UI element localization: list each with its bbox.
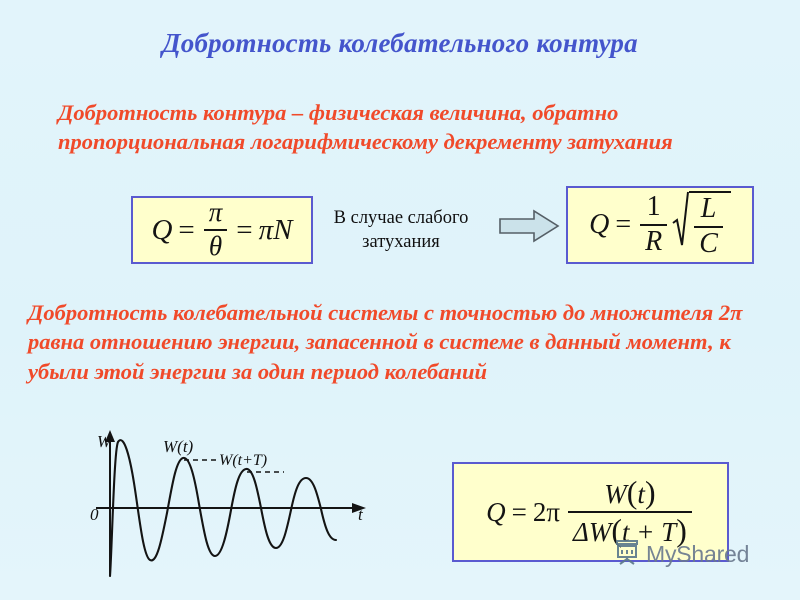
formula1-equals: =	[178, 214, 194, 247]
peak-label-wt-plus-t: W(t+T)	[219, 452, 267, 470]
caption-weak-damping: В случае слабого затухания	[312, 206, 490, 254]
formula1-rhs: πN	[259, 214, 293, 247]
formula2-sqrt-denominator: C	[694, 230, 723, 259]
axis-label-t: t	[358, 505, 363, 525]
formula2-denominator: R	[640, 228, 667, 257]
caption-line-2: затухания	[362, 232, 440, 252]
formula3-numerator: W(t)	[599, 477, 660, 509]
formula1-numerator: π	[204, 199, 228, 227]
damped-oscillation-chart	[88, 428, 388, 578]
right-arrow-icon	[498, 209, 560, 243]
formula1-equals-2: =	[236, 214, 252, 247]
paren-close: )	[645, 475, 656, 510]
formula1-lhs: Q	[151, 214, 172, 247]
formula3-fraction: W(t) ΔW(t + T)	[568, 477, 692, 548]
formula-2-expression: Q = 1 R L C	[589, 191, 731, 258]
presentation-board-icon	[613, 538, 641, 571]
axis-label-w: W	[97, 432, 111, 452]
formula3-numerator-argument: t	[637, 479, 645, 509]
formula-1-expression: Q = π θ = πN	[151, 199, 292, 260]
peak-label-wt: W(t)	[163, 437, 193, 457]
fraction-bar	[568, 511, 692, 513]
watermark-text: MyShared	[646, 541, 749, 568]
axis-origin-label: 0	[90, 505, 99, 525]
formula2-fraction: 1 R	[640, 193, 667, 256]
slide-canvas: Добротность колебательного контура Добро…	[0, 0, 800, 600]
myshared-watermark: MyShared	[613, 538, 749, 571]
formula3-coefficient: 2π	[533, 497, 560, 528]
formula-box-q-pi-theta: Q = π θ = πN	[131, 196, 313, 264]
formula3-equals: =	[512, 497, 527, 528]
formula2-sqrt-numerator: L	[696, 195, 722, 224]
formula2-square-root: L C	[672, 191, 731, 258]
paragraph-definition: Добротность контура – физическая величин…	[58, 98, 758, 157]
formula1-fraction: π θ	[204, 199, 228, 260]
formula2-inner-fraction: L C	[694, 195, 723, 258]
formula1-denominator: θ	[204, 233, 227, 261]
formula-box-q-sqrt-lc: Q = 1 R L C	[566, 186, 754, 264]
page-title: Добротность колебательного контура	[0, 28, 800, 59]
formula3-denominator-function: ΔW	[573, 517, 611, 547]
formula2-equals: =	[615, 209, 631, 241]
formula3-lhs: Q	[486, 497, 506, 528]
formula2-radicand: L C	[689, 191, 731, 258]
radical-sign-icon	[672, 191, 689, 258]
formula3-numerator-function: W	[604, 479, 627, 509]
formula2-numerator: 1	[642, 193, 666, 222]
paragraph-energy-ratio: Добротность колебательной системы с точн…	[28, 298, 778, 386]
paren-open: (	[627, 475, 638, 510]
formula-3-expression: Q = 2π W(t) ΔW(t + T)	[486, 477, 695, 548]
formula2-lhs: Q	[589, 209, 609, 241]
caption-line-1: В случае слабого	[334, 208, 469, 228]
